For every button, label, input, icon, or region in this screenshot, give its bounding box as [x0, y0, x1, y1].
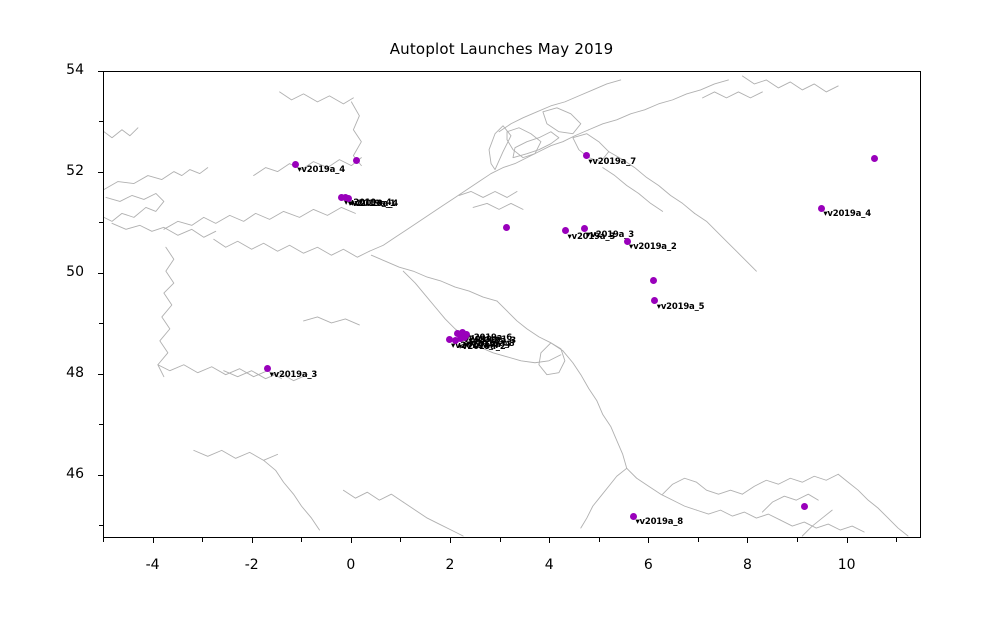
data-point-label: ▾v2019a_4	[350, 199, 398, 209]
y-tick-minor	[99, 424, 103, 425]
y-tick-major	[98, 273, 103, 274]
x-tick-minor	[896, 538, 897, 542]
y-tick-minor	[99, 323, 103, 324]
y-tick-major	[98, 172, 103, 173]
y-tick-label: 54	[24, 62, 84, 78]
x-tick-major	[252, 538, 253, 543]
x-tick-label: 6	[618, 557, 678, 573]
x-tick-minor	[400, 538, 401, 542]
x-tick-minor	[599, 538, 600, 542]
data-point-label: ▾v2019a_4	[823, 209, 871, 219]
x-tick-minor	[301, 538, 302, 542]
x-tick-major	[351, 538, 352, 543]
x-tick-major	[450, 538, 451, 543]
x-tick-minor	[698, 538, 699, 542]
y-tick-label: 50	[24, 264, 84, 280]
x-tick-label: 10	[817, 557, 877, 573]
data-point-label: ▾v2019a_2	[629, 242, 677, 252]
x-tick-minor	[103, 538, 104, 542]
y-tick-major	[98, 475, 103, 476]
y-tick-label: 52	[24, 163, 84, 179]
y-tick-label: 46	[24, 466, 84, 482]
x-tick-major	[549, 538, 550, 543]
plot-area[interactable]	[103, 71, 921, 538]
x-tick-minor	[500, 538, 501, 542]
data-point-label: ▾v2019a_3	[270, 370, 318, 380]
x-tick-minor	[202, 538, 203, 542]
x-tick-label: 8	[717, 557, 777, 573]
x-tick-label: 0	[321, 557, 381, 573]
map-coastlines	[104, 72, 920, 537]
data-point-label: ▾v2019a_4	[297, 165, 345, 175]
x-tick-minor	[797, 538, 798, 542]
data-point-label: ▾v2019a_5	[657, 302, 705, 312]
chart-title: Autoplot Launches May 2019	[0, 40, 1003, 58]
x-tick-label: 4	[519, 557, 579, 573]
x-tick-label: -2	[222, 557, 282, 573]
data-point-label: ▾v2019a_8	[635, 517, 683, 527]
x-tick-major	[847, 538, 848, 543]
data-point-marker[interactable]	[650, 277, 657, 284]
y-tick-minor	[99, 121, 103, 122]
x-tick-major	[153, 538, 154, 543]
figure-canvas: Autoplot Launches May 2019	[0, 0, 1003, 633]
x-tick-major	[747, 538, 748, 543]
x-tick-label: 2	[420, 557, 480, 573]
y-tick-minor	[99, 525, 103, 526]
data-point-label: ▾v2019a_7	[588, 157, 636, 167]
x-tick-label: -4	[123, 557, 183, 573]
data-point-marker[interactable]	[503, 224, 510, 231]
x-tick-major	[648, 538, 649, 543]
y-tick-minor	[99, 222, 103, 223]
y-tick-label: 48	[24, 365, 84, 381]
y-tick-major	[98, 374, 103, 375]
data-point-label: ▾v2019a_2	[458, 342, 506, 352]
y-tick-major	[98, 71, 103, 72]
